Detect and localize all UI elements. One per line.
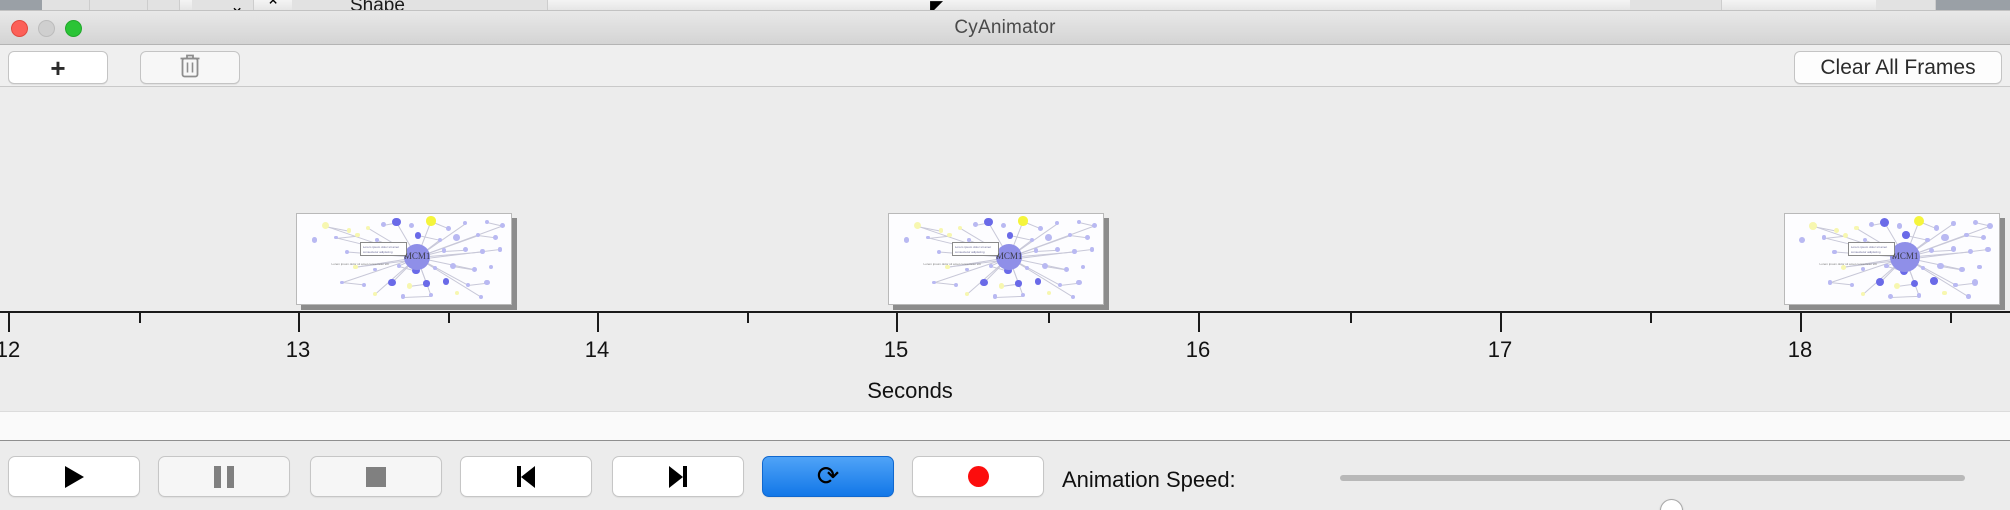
tick-major <box>1800 313 1802 332</box>
graph-node <box>1090 247 1095 252</box>
tick-minor <box>747 313 749 323</box>
graph-node <box>1968 249 1973 254</box>
graph-node <box>415 232 422 239</box>
graph-node <box>388 279 395 286</box>
playback-controls: ⟳ Animation Speed: <box>0 443 2010 510</box>
graph-edge <box>928 235 950 238</box>
graph-caption: Lorem ipsum dolor sit amet consectetur e… <box>1820 262 1877 266</box>
next-frame-button[interactable] <box>612 456 744 497</box>
timeline-frame[interactable]: MCM1Lorem ipsum dolor sit ametconsectetu… <box>888 213 1104 305</box>
axis-title: Seconds <box>0 378 2010 404</box>
graph-node <box>1959 267 1965 273</box>
graph-node <box>466 283 470 287</box>
graph-node <box>1869 222 1874 227</box>
graph-node <box>965 292 969 296</box>
graph-node <box>984 218 992 226</box>
graph-node <box>401 294 405 298</box>
graph-node <box>463 221 467 225</box>
tick-major <box>896 313 898 332</box>
frame-thumbnail-graph: MCM1Lorem ipsum dolor sit ametconsectetu… <box>1784 213 2000 305</box>
frame-thumbnail-wrapper[interactable]: MCM1Lorem ipsum dolor sit ametconsectetu… <box>888 213 1104 305</box>
graph-node <box>1007 232 1014 239</box>
graph-node <box>1977 265 1981 269</box>
graph-node <box>407 283 412 288</box>
graph-callout-line-1: Lorem ipsum dolor sit amet <box>363 245 399 250</box>
graph-node <box>397 264 401 268</box>
graph-node <box>1068 233 1072 237</box>
tick-label: 14 <box>585 337 609 363</box>
graph-node <box>373 268 377 272</box>
graph-node <box>1822 235 1826 239</box>
graph-node <box>345 250 349 254</box>
graph-node <box>429 293 433 297</box>
frame-thumbnail-wrapper[interactable]: MCM1Lorem ipsum dolor sit ametconsectetu… <box>296 213 512 305</box>
graph-node <box>993 294 997 298</box>
tick-minor <box>1048 313 1050 323</box>
graph-node <box>472 267 477 272</box>
frame-thumbnail-wrapper[interactable]: MCM1Lorem ipsum dolor sit ametconsectetu… <box>1784 213 2000 305</box>
graph-node <box>1925 238 1929 242</box>
graph-node <box>1917 293 1921 297</box>
previous-frame-button[interactable] <box>460 456 592 497</box>
graph-edge <box>995 295 1023 297</box>
graph-node <box>973 222 978 227</box>
graph-edge <box>1010 235 1032 241</box>
clear-all-frames-label: Clear All Frames <box>1820 56 1975 80</box>
graph-node <box>1042 263 1048 269</box>
background-caret-icon-3: ◤ <box>930 0 943 11</box>
graph-node <box>1055 221 1059 225</box>
tick-major <box>1500 313 1502 332</box>
graph-node <box>1951 221 1955 225</box>
play-icon <box>65 466 84 488</box>
graph-node <box>1942 291 1947 296</box>
graph-node <box>1973 220 1978 225</box>
cyanimator-window: Shape ⌄ ⌃ ◤ CyAnimator + <box>0 0 2010 510</box>
graph-node <box>498 247 503 252</box>
graph-node <box>1888 294 1893 299</box>
axis-title-label: Seconds <box>867 378 953 403</box>
graph-node <box>484 280 490 286</box>
graph-node <box>480 249 485 254</box>
graph-node <box>1902 231 1910 239</box>
graph-node <box>1897 223 1903 229</box>
graph-callout-line-2: consectetur adipiscing <box>955 250 985 255</box>
tick-label: 15 <box>884 337 908 363</box>
animation-speed-slider[interactable] <box>1340 475 1965 481</box>
graph-node <box>1038 226 1043 231</box>
graph-node <box>355 233 359 237</box>
title-bar: CyAnimator <box>0 11 2010 45</box>
graph-callout-line-2: consectetur adipiscing <box>1851 250 1881 255</box>
timeline-frame[interactable]: MCM1Lorem ipsum dolor sit ametconsectetu… <box>1784 213 2000 305</box>
delete-frame-button[interactable] <box>140 51 240 84</box>
graph-node <box>932 281 936 285</box>
tick-label: 16 <box>1186 337 1210 363</box>
background-window-label: Shape <box>350 0 405 11</box>
graph-node <box>1929 248 1934 253</box>
graph-node <box>463 247 468 252</box>
graph-node <box>1972 279 1978 285</box>
graph-node <box>373 292 377 296</box>
graph-node <box>381 222 386 227</box>
graph-edge <box>403 295 431 297</box>
graph-edge <box>342 282 364 285</box>
graph-node <box>980 279 987 286</box>
graph-node <box>1799 237 1805 243</box>
record-icon <box>968 466 989 487</box>
graph-edge <box>1830 282 1852 285</box>
graph-node <box>1854 226 1858 230</box>
graph-node <box>1930 277 1938 285</box>
graph-node <box>489 265 493 269</box>
graph-edge <box>934 282 956 285</box>
graph-hub-label: MCM1 <box>404 251 431 261</box>
graph-node <box>1832 250 1836 254</box>
graph-node <box>1876 278 1884 286</box>
graph-node <box>1966 294 1970 298</box>
graph-node <box>455 291 459 295</box>
graph-hub-label: MCM1 <box>996 251 1023 261</box>
animation-speed-label: Animation Speed: <box>1062 467 1236 493</box>
graph-node <box>1850 283 1854 287</box>
graph-edge <box>418 235 440 241</box>
graph-node <box>1894 283 1900 289</box>
graph-hub-label: MCM1 <box>1892 251 1919 261</box>
graph-node <box>362 283 366 287</box>
tick-label: 17 <box>1488 337 1512 363</box>
play-button[interactable] <box>8 456 140 497</box>
graph-node <box>1085 235 1090 240</box>
graph-node <box>1018 216 1027 225</box>
graph-node <box>1030 238 1034 242</box>
graph-node <box>450 263 456 269</box>
graph-node <box>476 233 480 237</box>
skip-next-icon <box>669 466 687 488</box>
graph-node <box>438 238 442 242</box>
loop-button[interactable]: ⟳ <box>762 456 894 497</box>
graph-node <box>1047 291 1051 295</box>
background-caret-icon-2: ⌃ <box>266 0 280 11</box>
graph-node <box>442 248 446 252</box>
graph-node <box>937 250 941 254</box>
tick-minor <box>448 313 450 323</box>
pause-button[interactable] <box>158 456 290 497</box>
graph-callout-line-1: Lorem ipsum dolor sit amet <box>955 245 991 250</box>
graph-caption: Lorem ipsum dolor sit amet consectetur e… <box>332 262 389 266</box>
pause-icon <box>214 466 234 488</box>
graph-node <box>1001 223 1006 228</box>
graph-node <box>914 222 921 229</box>
graph-node <box>485 220 489 224</box>
minimize-window-button[interactable] <box>38 20 55 37</box>
graph-node <box>939 228 943 232</box>
toolbar: + Clear All Frames <box>0 45 2010 87</box>
frame-thumbnail-graph: MCM1Lorem ipsum dolor sit ametconsectetu… <box>888 213 1104 305</box>
trash-icon <box>179 52 201 84</box>
tick-label: 18 <box>1788 337 1812 363</box>
graph-node <box>1058 283 1062 287</box>
graph-node <box>1064 267 1069 272</box>
graph-node <box>1937 263 1944 270</box>
animation-speed-slider-knob[interactable] <box>1660 499 1683 510</box>
graph-node <box>947 233 951 237</box>
window-title: CyAnimator <box>954 17 1055 39</box>
graph-node <box>1985 247 1990 252</box>
timeline-axis-line <box>0 311 2010 313</box>
graph-node <box>443 278 450 285</box>
graph-node <box>1015 280 1021 286</box>
tick-minor <box>1650 313 1652 323</box>
graph-node <box>999 283 1004 288</box>
graph-node <box>334 236 338 240</box>
graph-node <box>1034 248 1038 252</box>
stop-button[interactable] <box>310 456 442 497</box>
tick-major <box>1198 313 1200 332</box>
background-window-chrome: Shape ⌄ ⌃ ◤ <box>0 0 2010 11</box>
record-button[interactable] <box>912 456 1044 497</box>
close-window-button[interactable] <box>11 20 28 37</box>
tick-major <box>8 313 10 332</box>
graph-node <box>1076 280 1082 286</box>
graph-callout-line-1: Lorem ipsum dolor sit amet <box>1851 245 1887 250</box>
stop-icon <box>366 467 386 487</box>
graph-node <box>1941 234 1949 242</box>
tick-label: 12 <box>0 337 20 363</box>
graph-node <box>926 236 930 240</box>
graph-node <box>392 218 400 226</box>
graph-node <box>1828 280 1832 284</box>
tick-label: 13 <box>286 337 310 363</box>
graph-node <box>1045 234 1052 241</box>
graph-node <box>1077 220 1081 224</box>
graph-node <box>1081 265 1085 269</box>
graph-node <box>322 222 329 229</box>
tick-minor <box>139 313 141 323</box>
graph-node <box>1953 283 1957 287</box>
graph-node <box>1987 223 1993 229</box>
graph-node <box>1072 249 1077 254</box>
graph-node <box>479 295 483 299</box>
timeline-frame[interactable]: MCM1Lorem ipsum dolor sit ametconsectetu… <box>296 213 512 305</box>
graph-node <box>1964 233 1968 237</box>
graph-node <box>904 237 909 242</box>
graph-node <box>446 226 451 231</box>
graph-node <box>1934 225 1939 230</box>
graph-edge <box>336 235 358 238</box>
graph-node <box>1951 246 1957 252</box>
graph-callout-line-2: consectetur adipiscing <box>363 250 393 255</box>
graph-node <box>1834 228 1839 233</box>
graph-node <box>954 283 958 287</box>
add-frame-button[interactable]: + <box>8 51 108 84</box>
graph-node <box>453 234 460 241</box>
graph-node <box>426 216 435 225</box>
graph-node <box>1911 280 1918 287</box>
clear-all-frames-button[interactable]: Clear All Frames <box>1794 51 2002 84</box>
graph-node <box>347 228 351 232</box>
graph-node <box>1880 218 1889 227</box>
graph-node <box>1092 223 1097 228</box>
skip-previous-icon <box>517 466 535 488</box>
graph-node <box>989 264 993 268</box>
tick-minor <box>1350 313 1352 323</box>
tick-major <box>597 313 599 332</box>
graph-node <box>1884 264 1888 268</box>
zoom-window-button[interactable] <box>65 20 82 37</box>
graph-node <box>500 223 505 228</box>
graph-node <box>493 235 498 240</box>
graph-node <box>423 280 429 286</box>
graph-node <box>1021 293 1025 297</box>
graph-node <box>409 223 414 228</box>
background-caret-icon: ⌄ <box>230 0 244 11</box>
graph-edge <box>1891 295 1919 297</box>
frame-thumbnail-graph: MCM1Lorem ipsum dolor sit ametconsectetu… <box>296 213 512 305</box>
tick-major <box>298 313 300 332</box>
traffic-lights <box>11 20 82 37</box>
graph-caption: Lorem ipsum dolor sit amet consectetur e… <box>924 262 981 266</box>
graph-node <box>1861 292 1865 296</box>
graph-node <box>1071 295 1075 299</box>
graph-node <box>1035 278 1042 285</box>
tick-minor <box>1950 313 1952 323</box>
graph-node <box>1981 235 1986 240</box>
plus-icon: + <box>50 55 65 81</box>
graph-node <box>1843 233 1848 238</box>
graph-node <box>1809 222 1817 230</box>
timeline-scrollbar-track[interactable] <box>0 411 2010 441</box>
graph-node <box>1055 247 1060 252</box>
graph-node <box>965 268 969 272</box>
graph-node <box>312 237 317 242</box>
graph-node <box>340 281 344 285</box>
loop-icon: ⟳ <box>817 463 840 490</box>
graph-node <box>1914 216 1924 226</box>
